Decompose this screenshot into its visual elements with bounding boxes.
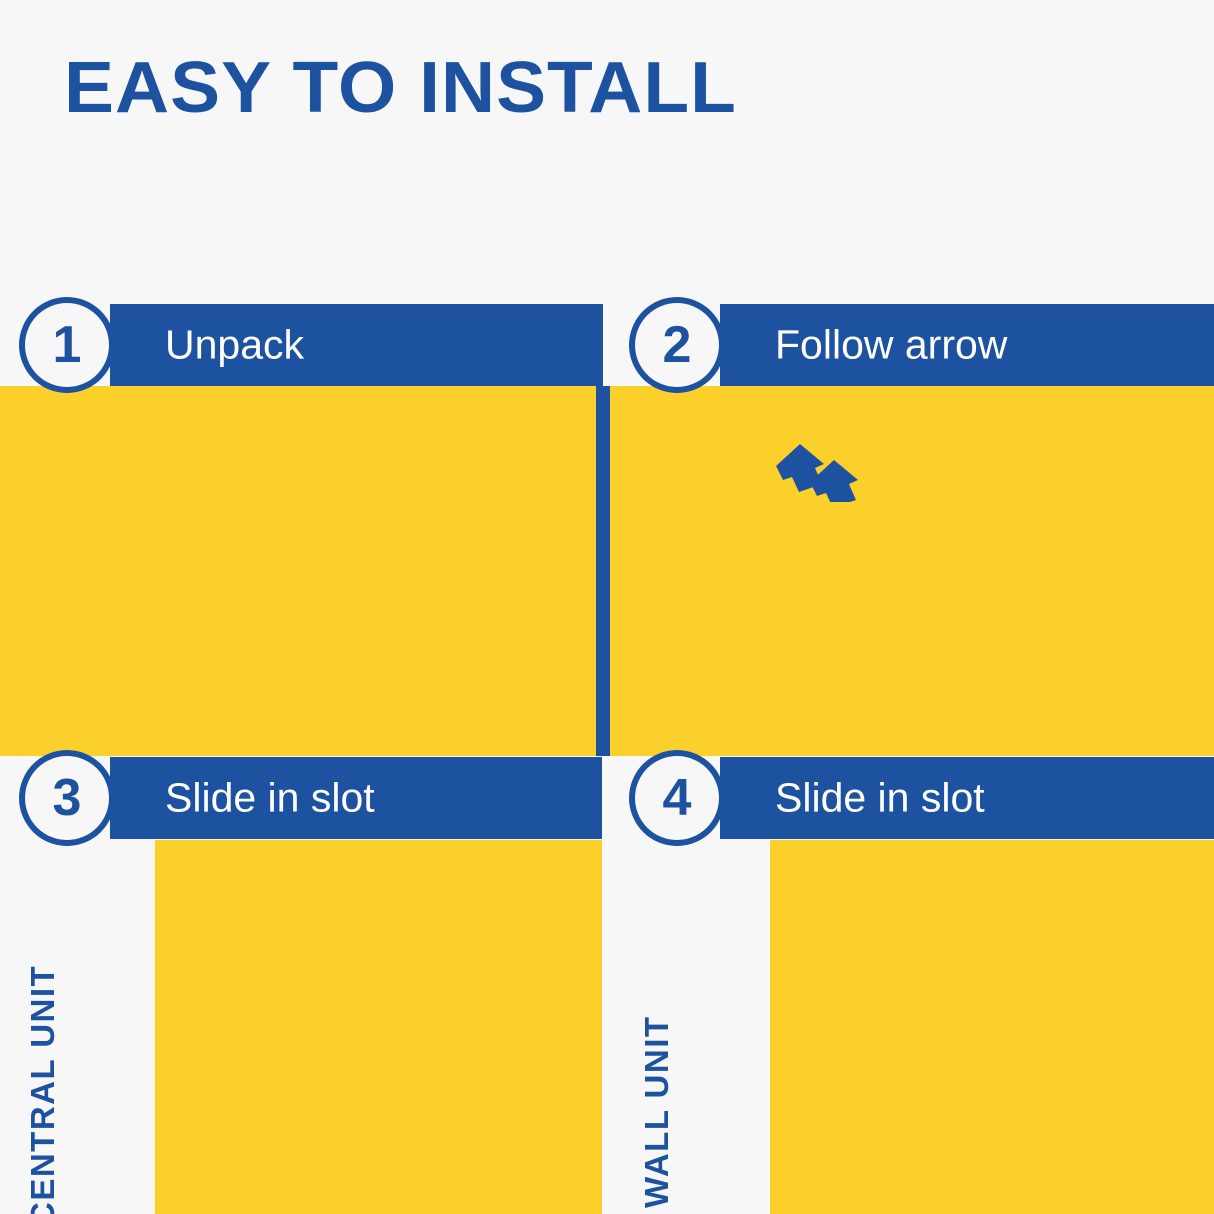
panel-3-background	[155, 840, 602, 1214]
step-4-header-bar: Slide in slot	[720, 757, 1214, 839]
side-label-wall-unit: WALL UNIT	[638, 1015, 676, 1208]
airflow-arrow-blue-top-left	[770, 432, 880, 502]
step-panel-1	[0, 386, 602, 756]
infographic-page: EASY TO INSTALL	[0, 0, 1214, 1214]
page-title: EASY TO INSTALL	[64, 52, 737, 124]
step-4-number-badge: 4	[629, 750, 725, 846]
panel-2-background	[610, 386, 1214, 756]
step-1-header-bar: Unpack	[110, 304, 602, 386]
step-2-label: Follow arrow	[775, 322, 1007, 369]
step-panel-2	[610, 386, 1214, 756]
side-label-central-unit: CENTRAL UNIT	[24, 965, 62, 1214]
step-3-header-bar: Slide in slot	[110, 757, 602, 839]
step-panel-3	[155, 840, 602, 1214]
step-3-label: Slide in slot	[165, 775, 375, 822]
step-3-number-badge: 3	[19, 750, 115, 846]
step-2-header-bar: Follow arrow	[720, 304, 1214, 386]
step-1-label: Unpack	[165, 322, 304, 369]
panel-4-background	[770, 840, 1214, 1214]
panel-1-background	[0, 386, 602, 756]
step-4-label: Slide in slot	[775, 775, 985, 822]
panel-divider-vertical-right	[603, 386, 610, 756]
step-1-number-badge: 1	[19, 297, 115, 393]
step-2-number-badge: 2	[629, 297, 725, 393]
step-panel-4	[770, 840, 1214, 1214]
